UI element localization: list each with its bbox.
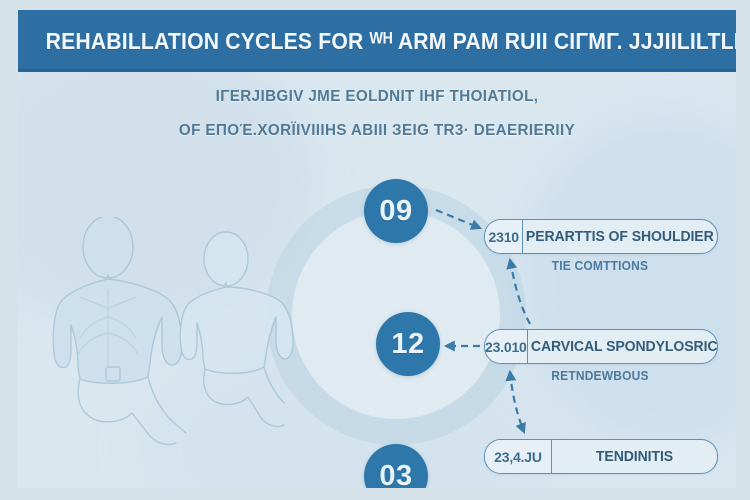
- condition-code-3: 23,4.JU: [485, 440, 552, 473]
- figure-left-legs: [78, 379, 176, 445]
- figure-right-leg-2: [264, 367, 284, 403]
- condition-subtext-2: RETNDEWBOUS: [489, 369, 712, 383]
- figure-right-head: [204, 232, 248, 286]
- figure-left-leg-2: [148, 377, 186, 433]
- cycle-step-number-3[interactable]: 03: [364, 444, 428, 488]
- condition-name-2: CARVICAL SPONDYLOSRIC: [531, 330, 718, 363]
- figure-right-torso: [180, 287, 293, 373]
- frame-right-edge: [736, 0, 750, 500]
- condition-code-2: 23.010: [485, 330, 528, 363]
- figure-left-head: [83, 217, 133, 278]
- frame-top-edge: [0, 0, 750, 10]
- page-title: REHABILLATION CYCLES FOR ᵂᴴ ARM PAM RUII…: [18, 28, 736, 55]
- subtitle-line-2: OF ΕΠΟΈ.XORΪIVIIIHS ABIII ЗEIG TR3· DЕAE…: [36, 114, 718, 148]
- cycle-step-number-1[interactable]: 09: [364, 179, 428, 243]
- condition-code-1: 2310: [485, 220, 523, 253]
- condition-row-1[interactable]: 2310 PERARTTIS OF SHOULDIER: [484, 219, 718, 254]
- condition-name-1: PERARTTIS OF SHOULDIER: [526, 220, 714, 253]
- condition-row-3[interactable]: 23,4.JU TENDINITIS: [484, 439, 718, 474]
- cycle-step-number-2[interactable]: 12: [376, 312, 440, 376]
- header-band: REHABILLATION CYCLES FOR ᵂᴴ ARM PAM RUII…: [18, 10, 736, 72]
- figure-left-belt: [106, 367, 120, 381]
- two-seated-figures-illustration: [36, 217, 306, 447]
- poster-body: IΓERJIBGIV JME EOLDNIT IHF THOIATIOL, OF…: [18, 72, 736, 488]
- condition-subtext-1: TIE COMTTIONS: [489, 259, 712, 273]
- subtitle-line-1: IΓERJIBGIV JME EOLDNIT IHF THOIATIOL,: [36, 80, 718, 114]
- condition-row-2[interactable]: 23.010 CARVICAL SPONDYLOSRIC: [484, 329, 718, 364]
- frame-bottom-edge: [0, 488, 750, 500]
- frame-left-edge: [0, 0, 18, 500]
- infographic-poster: REHABILLATION CYCLES FOR ᵂᴴ ARM PAM RUII…: [0, 0, 750, 500]
- figure-right-legs: [204, 369, 284, 427]
- subtitle-block: IΓERJIBGIV JME EOLDNIT IHF THOIATIOL, OF…: [18, 80, 736, 148]
- background-blob-right: [516, 112, 736, 452]
- condition-name-3: TENDINITIS: [554, 440, 714, 473]
